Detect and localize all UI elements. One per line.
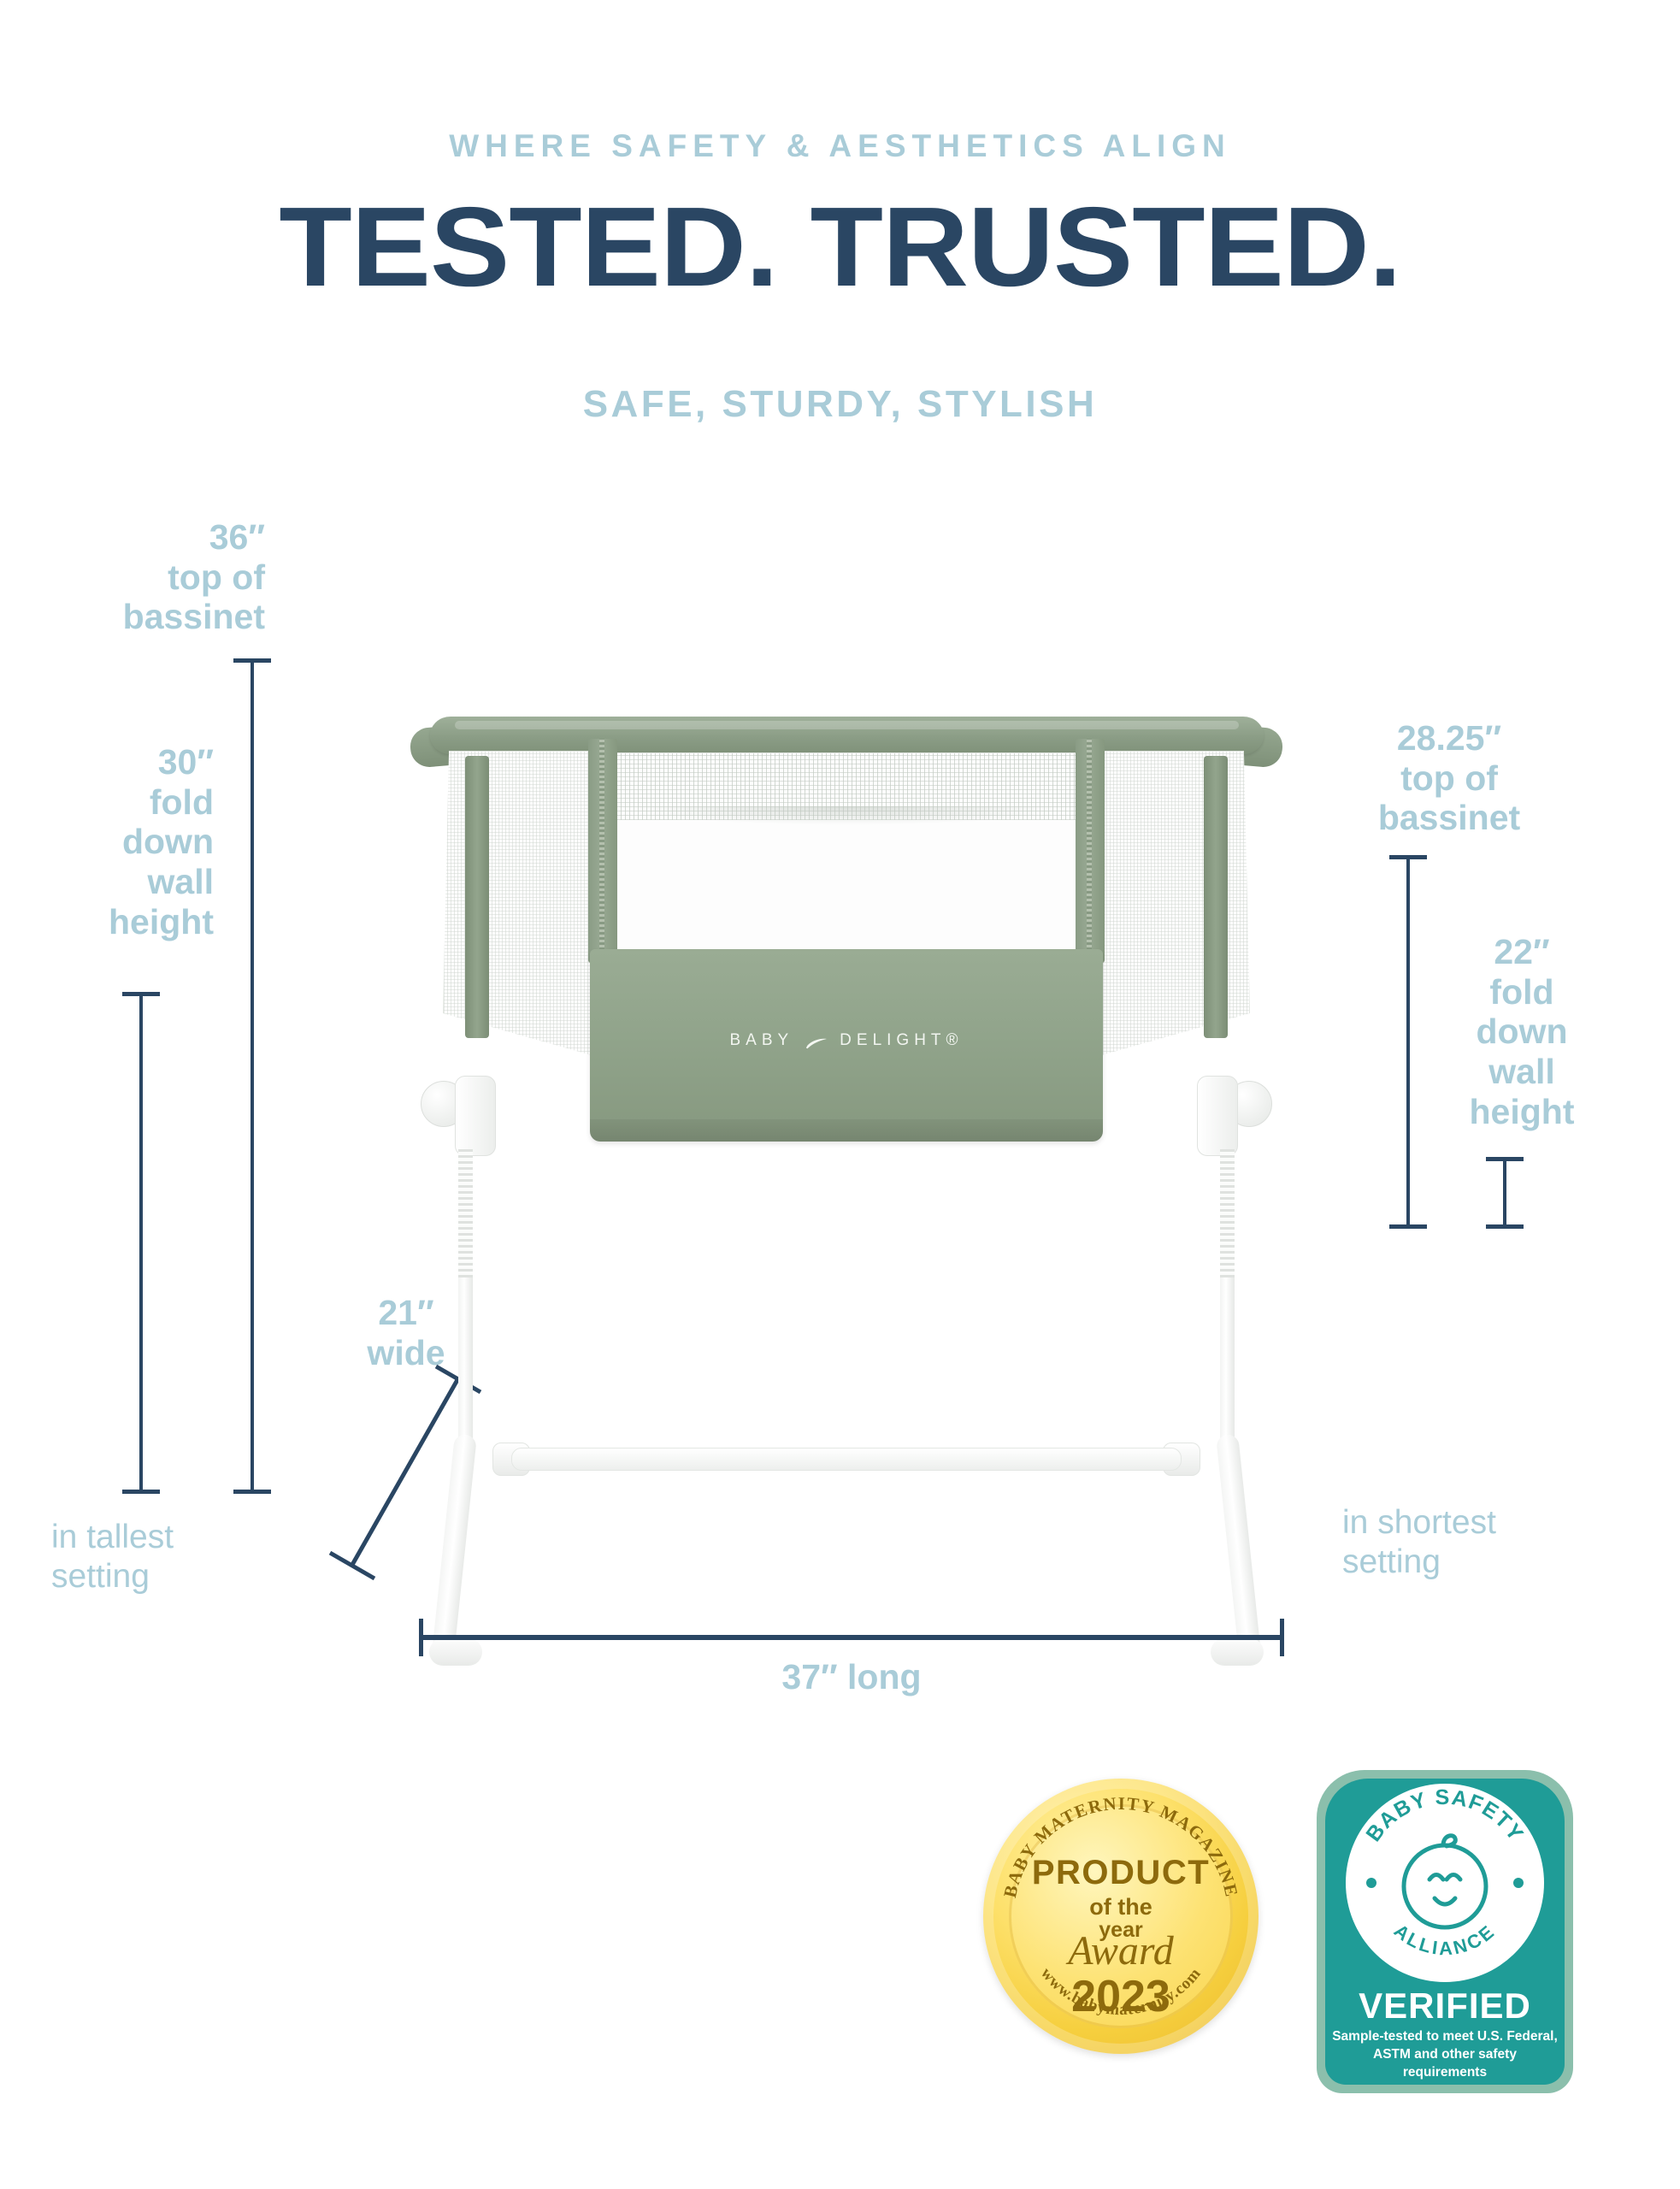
subtitle-text: SAFE, STURDY, STYLISH — [0, 383, 1680, 426]
page-title: TESTED. TRUSTED. — [0, 190, 1680, 305]
leg-post-left — [458, 1149, 473, 1450]
dimension-left-inner-label: 30″ fold down wall height — [17, 742, 214, 942]
dim-desc-1: top of — [34, 558, 265, 598]
seal-line-product: PRODUCT — [983, 1854, 1259, 1892]
brand-text-right: DELIGHT® — [840, 1031, 963, 1050]
dimension-right-inner-label: 22″ fold down wall height — [1424, 932, 1620, 1132]
dim-desc-2: down — [1424, 1012, 1620, 1052]
dim-cap-bottom-2825 — [1389, 1224, 1427, 1229]
front-mesh-window — [616, 752, 1079, 959]
caption-tallest-setting: in tallest setting — [51, 1518, 299, 1596]
dimension-line-30in — [139, 994, 143, 1491]
dim-desc-3: wall — [17, 862, 214, 902]
product-image-bassinet: BABY DELIGHT® — [410, 717, 1282, 1657]
foot-pad-left — [429, 1638, 482, 1666]
zipper-right — [1076, 739, 1105, 963]
seal-line-award: Award — [983, 1927, 1259, 1974]
baby-face-icon — [1404, 1836, 1486, 1927]
frame-stile-right — [1204, 756, 1228, 1038]
bassinet-front-panel: BABY DELIGHT® — [590, 949, 1103, 1142]
caption-line-1: in shortest — [1342, 1503, 1633, 1543]
dim-desc-1: top of — [1308, 758, 1590, 799]
leg-post-right — [1220, 1149, 1235, 1450]
dimension-right-outer-label: 28.25″ top of bassinet — [1308, 718, 1590, 838]
zipper-left — [588, 739, 617, 963]
dimension-line-36in — [251, 660, 254, 1491]
award-seal-badge: BABY MATERNITY MAGAZINE www.babymaternit… — [983, 1779, 1259, 2054]
eyebrow-text: WHERE SAFETY & AESTHETICS ALIGN — [0, 128, 1680, 164]
safety-verified-badge: BABY SAFETY ALLIANCE VERIFIED Sample-tes… — [1317, 1770, 1573, 2093]
dim-desc-2: down — [17, 822, 214, 862]
height-adjust-hub-right — [1190, 1076, 1272, 1158]
dim-desc-2: bassinet — [34, 597, 265, 637]
bassinet-top-rail — [430, 717, 1264, 754]
feather-icon — [805, 1035, 828, 1047]
dim-value: 28.25″ — [1308, 718, 1590, 758]
badge-title: VERIFIED — [1317, 1985, 1573, 2027]
seal-center-text: PRODUCT of the year Award 2023 — [983, 1854, 1259, 2022]
dim-desc-2: bassinet — [1308, 798, 1590, 838]
caption-line-1: in tallest — [51, 1518, 299, 1557]
dim-value: 30″ — [17, 742, 214, 782]
badge-subtitle-line-1: Sample-tested to meet U.S. Federal, — [1330, 2028, 1559, 2046]
dim-desc-1: fold — [17, 782, 214, 823]
dimension-line-37in — [419, 1635, 1284, 1640]
dimension-left-outer-label: 36″ top of bassinet — [34, 517, 265, 637]
dim-value: 36″ — [34, 517, 265, 558]
leg-foot-right — [1216, 1434, 1261, 1659]
dim-value: 22″ — [1424, 932, 1620, 972]
badge-seal-circle: BABY SAFETY ALLIANCE — [1346, 1784, 1544, 1982]
hub-body — [455, 1076, 496, 1156]
dim-cap-bottom-30 — [122, 1490, 160, 1494]
badge-subtitle: Sample-tested to meet U.S. Federal, ASTM… — [1330, 2028, 1559, 2082]
dimension-line-22in — [1503, 1159, 1506, 1226]
badge-ring-and-face: BABY SAFETY ALLIANCE — [1346, 1784, 1544, 1982]
base-crossbar — [511, 1448, 1182, 1471]
dim-desc-1: fold — [1424, 972, 1620, 1012]
dim-cap-bottom-22 — [1486, 1224, 1524, 1229]
height-adjust-hub-left — [421, 1076, 503, 1158]
dim-cap-bottom-36 — [233, 1490, 271, 1494]
leg-foot-left — [432, 1434, 477, 1659]
frame-stile-left — [465, 756, 489, 1038]
dim-desc-4: height — [1424, 1092, 1620, 1132]
brand-logo: BABY DELIGHT® — [590, 1031, 1103, 1050]
dim-cap-right-37 — [1280, 1619, 1284, 1656]
foot-pad-right — [1211, 1638, 1264, 1666]
dimension-line-2825in — [1406, 857, 1410, 1226]
caption-shortest-setting: in shortest setting — [1342, 1503, 1633, 1582]
dim-desc-3: wall — [1424, 1052, 1620, 1092]
hub-body — [1197, 1076, 1238, 1156]
dimension-length-label: 37″ long — [638, 1657, 1065, 1697]
caption-line-2: setting — [51, 1557, 299, 1596]
caption-line-2: setting — [1342, 1543, 1633, 1582]
brand-text-left: BABY — [729, 1031, 793, 1050]
infographic-page: WHERE SAFETY & AESTHETICS ALIGN TESTED. … — [0, 0, 1680, 2189]
dim-desc-4: height — [17, 902, 214, 942]
seal-line-ofthe: of the — [983, 1894, 1259, 1921]
seal-line-2023: 2023 — [983, 1971, 1259, 2022]
badge-subtitle-line-2: ASTM and other safety requirements — [1330, 2046, 1559, 2082]
